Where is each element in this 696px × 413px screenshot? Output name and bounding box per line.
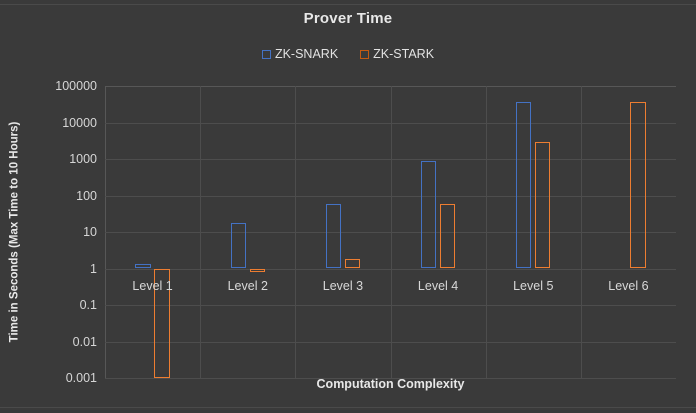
gridline-vertical	[200, 86, 201, 378]
x-axis-title: Computation Complexity	[105, 377, 676, 391]
x-axis-tick-label: Level 2	[228, 279, 268, 293]
x-axis-tick-label: Level 5	[513, 279, 553, 293]
y-axis-tick-label: 10000	[0, 116, 97, 130]
legend-swatch-icon-zk-stark	[360, 50, 369, 59]
legend-label-zk-stark: ZK-STARK	[373, 47, 434, 61]
x-axis-tick-label: Level 4	[418, 279, 458, 293]
gridline-vertical	[295, 86, 296, 378]
bar-stark-level-3[interactable]	[345, 259, 360, 268]
y-axis-tick-label: 100	[0, 189, 97, 203]
y-axis-tick-label: 1	[0, 262, 97, 276]
x-axis-tick-label: Level 1	[132, 279, 172, 293]
legend-label-zk-snark: ZK-SNARK	[275, 47, 338, 61]
y-axis-tick-label: 0.1	[0, 298, 97, 312]
bar-stark-level-5[interactable]	[535, 142, 550, 269]
x-axis-tick-label: Level 6	[608, 279, 648, 293]
y-axis-tick-label: 10	[0, 225, 97, 239]
legend-item-zk-stark[interactable]: ZK-STARK	[360, 47, 434, 61]
bar-snark-level-1[interactable]	[135, 264, 150, 268]
bar-snark-level-3[interactable]	[326, 204, 341, 268]
legend-item-zk-snark[interactable]: ZK-SNARK	[262, 47, 338, 61]
gridline-vertical	[581, 86, 582, 378]
bar-stark-level-6[interactable]	[630, 102, 645, 268]
chart-container: Prover Time ZK-SNARK ZK-STARK Time in Se…	[0, 0, 696, 413]
legend-swatch-icon-zk-snark	[262, 50, 271, 59]
bar-stark-level-4[interactable]	[440, 204, 455, 268]
y-axis-tick-label: 1000	[0, 152, 97, 166]
chart-title: Prover Time	[0, 10, 696, 27]
bar-snark-level-2[interactable]	[231, 223, 246, 269]
x-axis-tick-label: Level 3	[323, 279, 363, 293]
y-axis-tick-label: 100000	[0, 79, 97, 93]
bar-stark-level-2[interactable]	[250, 269, 265, 273]
y-axis-tick-label: 0.001	[0, 371, 97, 385]
plot-area	[105, 86, 676, 378]
gridline-vertical	[391, 86, 392, 378]
bar-snark-level-5[interactable]	[516, 102, 531, 268]
chart-legend: ZK-SNARK ZK-STARK	[0, 47, 696, 61]
bar-snark-level-4[interactable]	[421, 161, 436, 269]
gridline-vertical	[486, 86, 487, 378]
y-axis-tick-label: 0.01	[0, 335, 97, 349]
